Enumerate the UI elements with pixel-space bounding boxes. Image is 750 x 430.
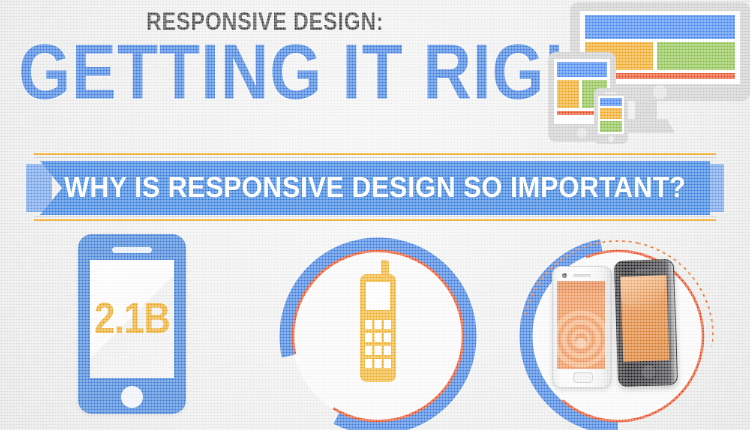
- white-phone-wallpaper: [557, 281, 605, 369]
- stat-card-mobile-users: 2.1B: [25, 226, 245, 430]
- black-phone-speaker: [635, 269, 653, 273]
- large-phone-screen: 2.1B: [90, 260, 174, 378]
- infographic-canvas: RESPONSIVE DESIGN: GETTING IT RIGHT: [0, 0, 750, 430]
- black-phone-screen: [620, 275, 669, 362]
- banner-rule-top-thin: [34, 157, 716, 158]
- stat-card-feature-phone: [268, 226, 488, 430]
- banner-title: WHY IS RESPONSIVE DESIGN SO IMPORTANT?: [67, 161, 683, 215]
- large-smartphone-icon: 2.1B: [78, 234, 186, 414]
- phone-block-green: [600, 121, 622, 132]
- banner-rule-bottom: [34, 219, 716, 221]
- header-section: RESPONSIVE DESIGN: GETTING IT RIGHT: [0, 0, 750, 150]
- banner-rule-bottom-thin: [34, 216, 716, 217]
- feature-phone-icon: [354, 258, 402, 386]
- phone-block-blue: [600, 98, 622, 106]
- stat-card-smartphones: [508, 226, 728, 430]
- section-banner: WHY IS RESPONSIVE DESIGN SO IMPORTANT?: [0, 150, 750, 226]
- stats-row: 2.1B: [0, 226, 750, 430]
- phone-speaker: [605, 92, 617, 94]
- phone-icon: [594, 88, 628, 144]
- white-phone-camera: [562, 273, 567, 278]
- monitor-logo-dot: [653, 85, 667, 99]
- black-phone-home-button: [640, 364, 657, 381]
- phone-block-yellow: [600, 108, 622, 119]
- phone-screen: [598, 96, 624, 134]
- banner-body: WHY IS RESPONSIVE DESIGN SO IMPORTANT?: [40, 161, 710, 215]
- phone-home-dot: [608, 136, 614, 142]
- black-smartphone: [614, 259, 678, 387]
- black-phone-screen-gloss: [620, 275, 669, 314]
- banner-rule-top: [34, 153, 716, 155]
- large-phone-home-button: [121, 386, 143, 408]
- monitor-block-green: [657, 42, 735, 70]
- tablet-block-blue: [557, 62, 607, 77]
- tablet-block-yellow: [557, 80, 579, 108]
- page-title: GETTING IT RIGHT: [19, 36, 512, 109]
- white-smartphone: [552, 266, 612, 388]
- white-phone-speaker: [573, 274, 591, 277]
- tablet-home-dot: [577, 128, 587, 138]
- responsive-devices-illustration: [513, 2, 750, 148]
- monitor-stand-neck: [635, 101, 657, 119]
- stat-value: 2.1B: [96, 260, 167, 378]
- white-phone-screen: [557, 281, 605, 369]
- monitor-block-blue: [585, 15, 735, 39]
- white-phone-home-button: [573, 372, 593, 383]
- two-smartphones-icon: [550, 254, 690, 394]
- banner-fold-left: [26, 164, 52, 212]
- large-phone-speaker: [112, 247, 152, 253]
